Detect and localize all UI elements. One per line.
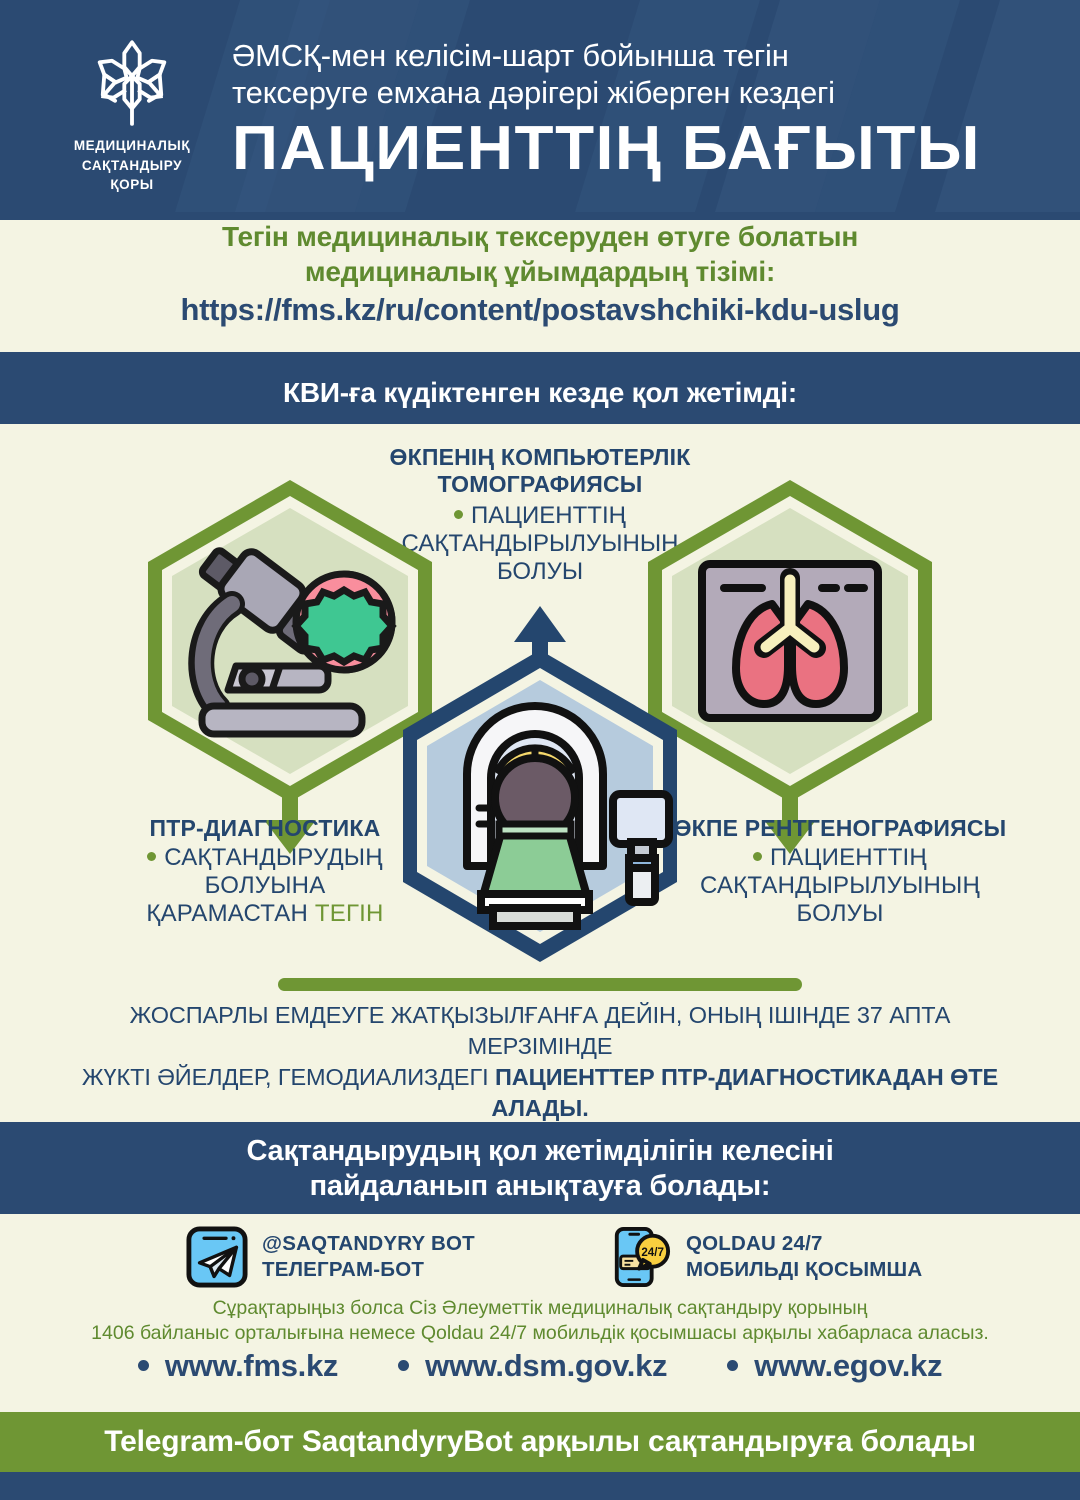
site-link-fms-label: www.fms.kz <box>165 1348 338 1383</box>
snowflake-logo-icon <box>82 30 182 130</box>
bullet-dot-icon <box>727 1360 738 1371</box>
clinics-list-band: Тегін медициналық тексеруден өтуге болат… <box>0 220 1080 356</box>
ct-body-line-3: БОЛУЫ <box>497 558 583 585</box>
qoldau-contact[interactable]: 24/7 QOLDAU 24/7 МОБИЛЬДІ ҚОСЫМША <box>610 1226 922 1288</box>
telegram-icon <box>186 1226 248 1288</box>
svg-text:24/7: 24/7 <box>641 1246 664 1259</box>
cta-line-1: Сақтандырудың қол жетімділігін келесіні <box>0 1122 1080 1169</box>
note-line-2-normal: ЖҮКТІ ӘЙЕЛДЕР, ГЕМОДИАЛИЗДЕГІ <box>82 1064 495 1090</box>
logo-line-2: САҚТАНДЫРУ <box>82 158 182 173</box>
ptr-title: ПТР-ДИАГНОСТИКА <box>80 816 450 841</box>
site-link-dsm[interactable]: www.dsm.gov.kz <box>398 1348 667 1384</box>
telegram-handle: @SAQTANDYRY BOT <box>262 1231 475 1257</box>
ptr-body-line-1: САҚТАНДЫРУДЫҢ <box>164 844 383 871</box>
footnote-line-2: 1406 байланыс орталығына немесе Qoldau 2… <box>30 1321 1050 1346</box>
mobile-app-24-7-icon: 24/7 <box>610 1226 672 1288</box>
ptr-body-highlight: ТЕГІН <box>315 900 384 927</box>
xray-body-line-1: ПАЦИЕНТТІҢ <box>770 844 927 871</box>
footnote-line-1: Сұрақтарыңыз болса Сіз Әлеуметтік медици… <box>30 1296 1050 1321</box>
bullet-dot-icon <box>454 510 463 519</box>
footer-banner: Telegram-бот SaqtandyryBot арқылы сақтан… <box>0 1412 1080 1472</box>
header-banner: МЕДИЦИНАЛЫҚ САҚТАНДЫРУ ҚОРЫ ӘМСҚ-мен кел… <box>0 0 1080 212</box>
footnote: Сұрақтарыңыз болса Сіз Әлеуметтік медици… <box>30 1296 1050 1347</box>
band-divider <box>0 352 1080 362</box>
page-title: ПАЦИЕНТТІҢ БАҒЫТЫ <box>232 117 1080 180</box>
telegram-contact[interactable]: @SAQTANDYRY BOT ТЕЛЕГРАМ-БОТ <box>186 1226 475 1288</box>
telegram-text: @SAQTANDYRY BOT ТЕЛЕГРАМ-БОТ <box>262 1231 475 1282</box>
site-link-dsm-label: www.dsm.gov.kz <box>425 1348 667 1383</box>
header-subtitle-line-2: тексеруге емхана дәрігері жіберген кезде… <box>232 75 835 110</box>
header-subtitle: ӘМСҚ-мен келісім-шарт бойынша тегін текс… <box>232 38 1062 111</box>
xray-body: ПАЦИЕНТТІҢ САҚТАНДЫРЫЛУЫНЫҢ БОЛУЫ <box>640 844 1040 927</box>
logo-line-3: ҚОРЫ <box>110 177 153 192</box>
note-line-2-bold: ПАЦИЕНТТЕР ПТР-ДИАГНОСТИКАДАН ӨТЕ АЛАДЫ. <box>491 1064 998 1121</box>
bullet-dot-icon <box>398 1360 409 1371</box>
ct-body-line-1: ПАЦИЕНТТІҢ <box>471 502 626 529</box>
cta-banner: Сақтандырудың қол жетімділігін келесіні … <box>0 1122 1080 1214</box>
logo-line-1: МЕДИЦИНАЛЫҚ <box>74 138 190 153</box>
ptr-body-line-2: БОЛУЫНА <box>205 872 326 899</box>
infographic-page: МЕДИЦИНАЛЫҚ САҚТАНДЫРУ ҚОРЫ ӘМСҚ-мен кел… <box>0 0 1080 1500</box>
site-link-egov[interactable]: www.egov.kz <box>727 1348 942 1384</box>
contacts-row: @SAQTANDYRY BOT ТЕЛЕГРАМ-БОТ 24/7 QOLDAU… <box>0 1216 1080 1306</box>
note-line-1: ЖОСПАРЛЫ ЕМДЕУГЕ ЖАТҚЫЗЫЛҒАНҒА ДЕЙІН, ОН… <box>60 1000 1020 1062</box>
xray-hexagon <box>640 476 940 806</box>
ptr-label: ПТР-ДИАГНОСТИКА САҚТАНДЫРУДЫҢ БОЛУЫНА ҚА… <box>80 816 450 928</box>
lungs-xray-hexagon-icon <box>640 476 940 806</box>
logo-text: МЕДИЦИНАЛЫҚ САҚТАНДЫРУ ҚОРЫ <box>42 136 222 195</box>
qoldau-title: QOLDAU 24/7 <box>686 1231 922 1257</box>
qoldau-text: QOLDAU 24/7 МОБИЛЬДІ ҚОСЫМША <box>686 1231 922 1282</box>
header-divider <box>0 212 1080 220</box>
ptr-body-line-3: ҚАРАМАСТАН <box>146 900 308 927</box>
xray-title: ӨКПЕ РЕНТГЕНОГРАФИЯСЫ <box>640 816 1040 841</box>
organization-logo: МЕДИЦИНАЛЫҚ САҚТАНДЫРУ ҚОРЫ <box>42 30 222 195</box>
telegram-subtitle: ТЕЛЕГРАМ-БОТ <box>262 1257 475 1283</box>
bullet-dot-icon <box>147 852 156 861</box>
header-text-block: ӘМСҚ-мен келісім-шарт бойынша тегін текс… <box>232 38 1062 180</box>
xray-body-line-3: БОЛУЫ <box>796 900 883 927</box>
clinics-list-line-1: Тегін медициналық тексеруден өтуге болат… <box>0 220 1080 255</box>
xray-label: ӨКПЕ РЕНТГЕНОГРАФИЯСЫ ПАЦИЕНТТІҢ САҚТАНД… <box>640 816 1040 928</box>
site-link-fms[interactable]: www.fms.kz <box>138 1348 338 1384</box>
clinics-list-line-2: медициналық ұйымдардың тізімі: <box>0 255 1080 290</box>
bullet-dot-icon <box>753 852 762 861</box>
cta-line-2: пайдаланып анықтауға болады: <box>0 1169 1080 1204</box>
ptr-body: САҚТАНДЫРУДЫҢ БОЛУЫНА ҚАРАМАСТАН ТЕГІН <box>80 844 450 927</box>
website-links: www.fms.kz www.dsm.gov.kz www.egov.kz <box>30 1348 1050 1384</box>
lungs-glyph <box>702 564 878 718</box>
qoldau-subtitle: МОБИЛЬДІ ҚОСЫМША <box>686 1257 922 1283</box>
header-subtitle-line-1: ӘМСҚ-мен келісім-шарт бойынша тегін <box>232 38 789 73</box>
bullet-dot-icon <box>138 1360 149 1371</box>
footer-strip <box>0 1472 1080 1500</box>
green-separator-bar <box>278 978 802 991</box>
site-link-egov-label: www.egov.kz <box>754 1348 942 1383</box>
note-line-2: ЖҮКТІ ӘЙЕЛДЕР, ГЕМОДИАЛИЗДЕГІ ПАЦИЕНТТЕР… <box>60 1062 1020 1124</box>
clinics-list-url[interactable]: https://fms.kz/ru/content/postavshchiki-… <box>0 291 1080 328</box>
covid-subhead: КВИ-ға күдіктенген кезде қол жетімді: <box>0 362 1080 424</box>
xray-body-line-2: САҚТАНДЫРЫЛУЫНЫҢ <box>700 872 980 899</box>
ct-body-line-2: САҚТАНДЫРЫЛУЫНЫҢ <box>402 530 679 557</box>
